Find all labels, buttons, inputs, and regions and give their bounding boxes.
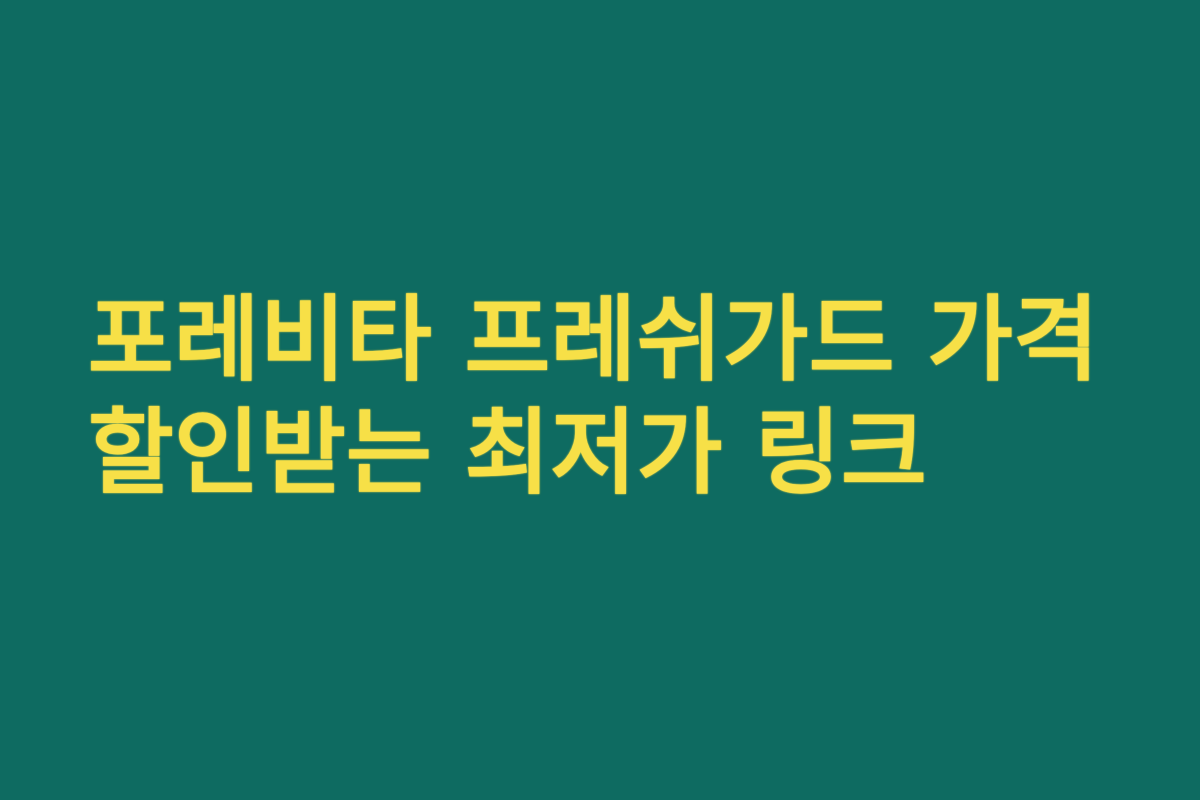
headline-text: 포레비타 프레쉬가드 가격 할인받는 최저가 링크 (88, 284, 1114, 509)
banner-canvas: 포레비타 프레쉬가드 가격 할인받는 최저가 링크 (0, 0, 1200, 800)
headline-block: 포레비타 프레쉬가드 가격 할인받는 최저가 링크 (0, 284, 1200, 509)
